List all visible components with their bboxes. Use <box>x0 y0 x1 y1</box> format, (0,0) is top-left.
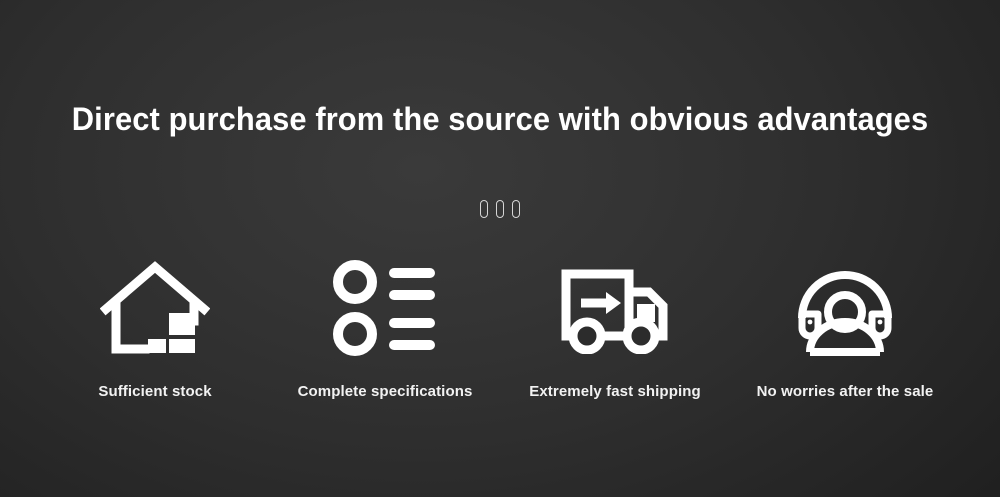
page-title: Direct purchase from the source with obv… <box>18 99 983 139</box>
delivery-truck-icon <box>559 258 671 358</box>
feature-label: No worries after the sale <box>757 382 934 402</box>
divider-pill-2 <box>496 200 504 218</box>
feature-label: Sufficient stock <box>98 382 211 402</box>
feature-label: Extremely fast shipping <box>529 382 701 402</box>
headset-support-agent-icon <box>792 258 898 358</box>
divider-pill-3 <box>512 200 520 218</box>
three-pill-divider <box>0 199 1000 219</box>
specifications-list-icon <box>333 258 437 358</box>
feature-item-sufficient-stock: Sufficient stock <box>40 258 270 402</box>
feature-item-complete-specifications: Complete specifications <box>270 258 500 402</box>
divider-pill-1 <box>480 200 488 218</box>
feature-item-after-sale-support: No worries after the sale <box>730 258 960 402</box>
promo-banner: Direct purchase from the source with obv… <box>0 0 1000 497</box>
feature-item-fast-shipping: Extremely fast shipping <box>500 258 730 402</box>
warehouse-house-boxes-icon <box>100 258 210 358</box>
feature-label: Complete specifications <box>298 382 473 402</box>
feature-list: Sufficient stock Complete specifications <box>40 258 960 402</box>
